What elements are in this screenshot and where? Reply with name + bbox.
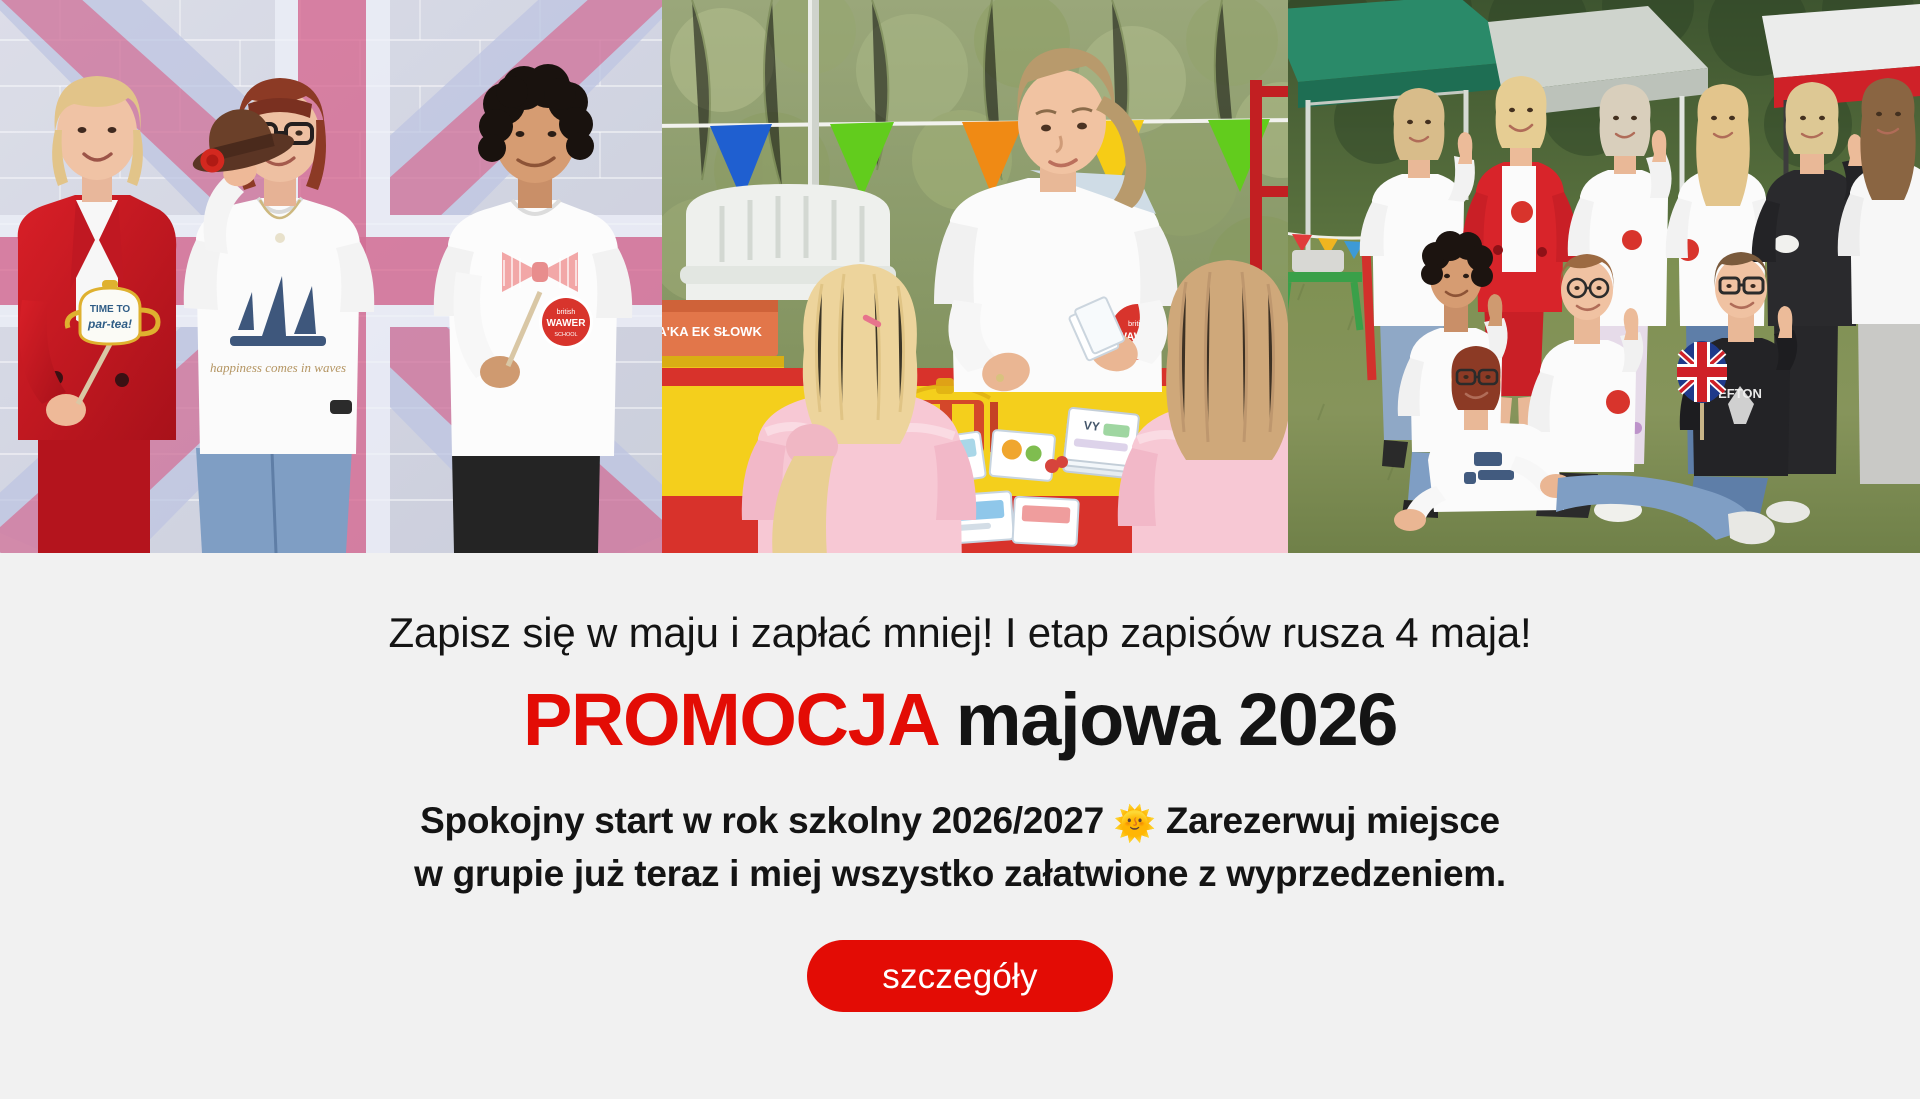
promo-kicker: Zapisz się w maju i zapłać mniej! I etap… xyxy=(388,610,1531,655)
svg-text:british: british xyxy=(557,309,576,316)
photo-union-jack-group[interactable]: TIME TO par-tea! xyxy=(0,0,662,553)
headline-accent: PROMOCJA xyxy=(523,678,937,761)
photo-spanish-lesson[interactable]: JA'KA EK SŁOWK Gran Ju Verb xyxy=(662,0,1288,553)
svg-text:JA'KA EK SŁOWK: JA'KA EK SŁOWK xyxy=(662,324,762,339)
svg-text:VY: VY xyxy=(1083,418,1100,434)
page-title: PROMOCJA majowa 2026 xyxy=(523,681,1397,759)
svg-text:WAWER: WAWER xyxy=(547,318,587,329)
details-button[interactable]: szczegóły xyxy=(807,940,1113,1012)
promo-subcopy-line-2: w grupie już teraz i miej wszystko załat… xyxy=(414,848,1506,901)
svg-text:SCHOOL: SCHOOL xyxy=(554,332,577,338)
headline-rest: majowa 2026 xyxy=(937,678,1397,761)
photo-team-outdoor[interactable]: EFTON xyxy=(1288,0,1920,553)
promo-banner: TIME TO par-tea! xyxy=(0,0,1920,1099)
promo-subcopy-line-1: Spokojny start w rok szkolny 2026/2027 🌞… xyxy=(414,795,1506,848)
school-badge: british WAWER SCHOOL xyxy=(539,295,593,349)
team-outdoor-illustration: EFTON xyxy=(1288,0,1920,553)
svg-text:TIME TO: TIME TO xyxy=(90,304,131,315)
svg-text:par-tea!: par-tea! xyxy=(87,317,132,331)
promo-content: Zapisz się w maju i zapłać mniej! I etap… xyxy=(0,553,1920,1099)
svg-text:happiness comes in waves: happiness comes in waves xyxy=(210,360,346,375)
promo-subcopy: Spokojny start w rok szkolny 2026/2027 🌞… xyxy=(414,795,1506,900)
sun-with-face-icon: 🌞 xyxy=(1114,804,1156,844)
cta-container: szczegóły xyxy=(0,940,1920,1012)
spanish-lesson-illustration: JA'KA EK SŁOWK Gran Ju Verb xyxy=(662,0,1288,553)
union-jack-group-illustration: TIME TO par-tea! xyxy=(0,0,662,553)
subcopy-text-after-emoji: Zarezerwuj miejsce xyxy=(1156,800,1500,841)
subcopy-text-before-emoji: Spokojny start w rok szkolny 2026/2027 xyxy=(420,800,1114,841)
photo-gallery-strip: TIME TO par-tea! xyxy=(0,0,1920,553)
